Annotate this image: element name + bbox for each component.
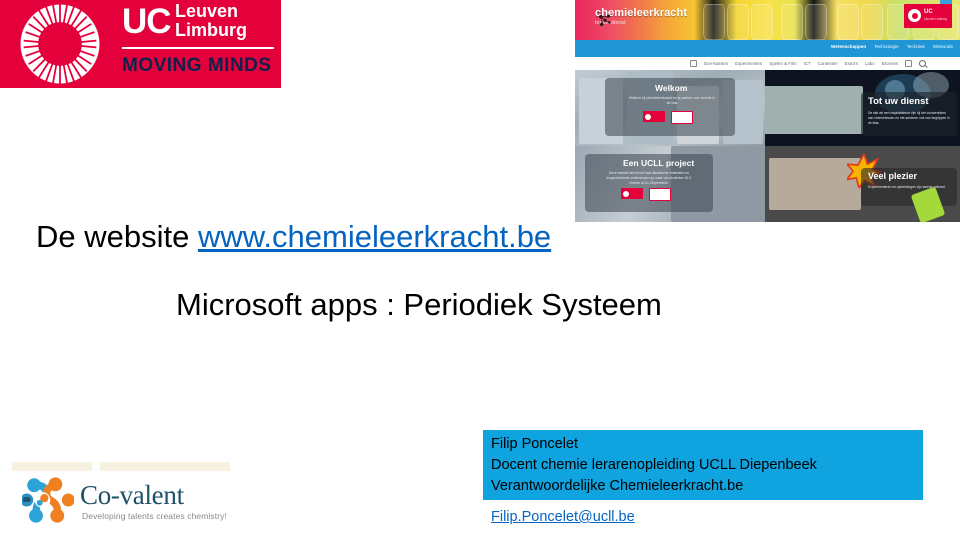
site-navigation-bar: Doe-kaarten Experimenten Spelen & Film I…: [575, 57, 960, 70]
contact-email-link[interactable]: Filip.Poncelet@ucll.be: [491, 509, 635, 525]
site-nav-item-5[interactable]: Extra's: [845, 61, 858, 66]
ucll-logo-sub: Leuven Limburg: [175, 2, 247, 40]
website-text-prefix: De website: [36, 219, 198, 254]
site-panel-welkom: Welkom Welkom bij chemieleerkracht.be je…: [575, 70, 765, 146]
ucll-logo-line2: Limburg: [175, 21, 247, 40]
ucll-logo-tagline: MOVING MINDS: [122, 56, 272, 76]
site-top-link-3[interactable]: Wiskunde: [933, 44, 953, 49]
sunburst-icon: [8, 2, 112, 86]
cream-bar-right: [100, 462, 230, 471]
site-top-link-1[interactable]: Technologie: [874, 44, 899, 49]
partner-mini-badge-2: [649, 188, 671, 201]
site-panel-ucll-project-body: Deze website bevat heel wat didactische …: [601, 171, 697, 186]
site-panel-ucll-project: Een UCLL project Deze website bevat heel…: [575, 146, 765, 222]
site-panel-ucll-project-title: Een UCLL project: [623, 158, 694, 168]
ucll-mini-badge-2: [621, 188, 643, 199]
site-panel-ucll-badges: [621, 188, 671, 201]
site-panel-tot-uw-dienst-overlay: Tot uw dienst De site wil een inspiratie…: [861, 92, 957, 136]
apps-text-line: Microsoft apps : Periodiek Systeem: [176, 287, 876, 323]
site-nav-items[interactable]: Doe-kaarten Experimenten Spelen & Film I…: [690, 60, 926, 67]
cream-bar-left: [12, 462, 92, 471]
site-nav-item-4[interactable]: Contexten: [818, 61, 838, 66]
site-top-link-2[interactable]: Techniek: [907, 44, 925, 49]
home-icon[interactable]: [690, 60, 697, 67]
site-panel-tot-uw-dienst-body: De site wil een inspiratiebron zijn bij …: [868, 111, 952, 126]
site-panel-welkom-body: Welkom bij chemieleerkracht.be je partne…: [627, 96, 717, 106]
site-panel-ucll-project-overlay: Een UCLL project Deze website bevat heel…: [585, 154, 713, 212]
ucll-logo: UC Leuven Limburg MOVING MINDS: [0, 0, 281, 88]
site-panel-veel-plezier: Veel plezier Experimenteren en opmerking…: [765, 146, 960, 222]
contact-info-box: Filip Poncelet Docent chemie lerarenople…: [483, 430, 923, 500]
site-panel-welkom-badges: [643, 111, 693, 124]
site-top-link-0[interactable]: Wetenschappen: [831, 44, 866, 49]
contact-role: Docent chemie lerarenopleiding UCLL Diep…: [483, 455, 923, 476]
search-icon[interactable]: [919, 60, 926, 67]
site-ucll-badge-name: UC: [924, 9, 933, 15]
site-panel-veel-plezier-title: Veel plezier: [868, 171, 917, 181]
site-panel-tot-uw-dienst: Tot uw dienst De site wil een inspiratie…: [765, 70, 960, 146]
site-nav-item-0[interactable]: Doe-kaarten: [704, 61, 728, 66]
site-panel-veel-plezier-body: Experimenteren en opmerkingen zijn steed…: [868, 185, 952, 190]
site-nav-item-1[interactable]: Experimenten: [735, 61, 762, 66]
website-text-line: De website www.chemieleerkracht.be: [36, 219, 656, 255]
site-panel-tot-uw-dienst-title: Tot uw dienst: [868, 96, 929, 107]
molecule-icon: [598, 14, 612, 28]
site-ucll-badge-sub: Leuven Limburg: [924, 17, 947, 21]
site-nav-item-6[interactable]: Labo: [865, 61, 875, 66]
uc-letters: UC: [122, 4, 171, 39]
site-brand-logo[interactable]: chemieleerkracht tot uw dienst: [595, 7, 687, 26]
covalent-logo: Co-valent Developing talents creates che…: [22, 473, 242, 531]
chemieleerkracht-link[interactable]: www.chemieleerkracht.be: [198, 219, 551, 254]
site-ucll-badge-mark: [908, 9, 921, 22]
cart-icon[interactable]: [905, 60, 912, 67]
contact-name: Filip Poncelet: [483, 430, 923, 455]
covalent-tagline: Developing talents creates chemistry!: [82, 511, 227, 521]
site-nav-item-2[interactable]: Spelen & Film: [769, 61, 796, 66]
site-panel-veel-plezier-overlay: Veel plezier Experimenteren en opmerking…: [861, 168, 957, 206]
site-panel-welkom-overlay: Welkom Welkom bij chemieleerkracht.be je…: [605, 78, 735, 136]
site-nav-item-3[interactable]: ICT: [804, 61, 811, 66]
covalent-name: Co-valent: [80, 480, 184, 511]
site-panel-photo: [765, 86, 863, 134]
covalent-molecule-icon: [22, 476, 74, 524]
presentation-slide: UC Leuven Limburg MOVING MINDS: [0, 0, 960, 540]
site-hero-banner: chemieleerkracht tot uw dienst UC Leuven…: [575, 0, 960, 40]
website-screenshot-image: chemieleerkracht tot uw dienst UC Leuven…: [575, 0, 960, 222]
contact-responsibility: Verantwoordelijke Chemieleerkracht.be: [483, 476, 923, 497]
ucll-logo-line1: Leuven: [175, 2, 247, 21]
ucll-mini-badge: [643, 111, 665, 122]
partner-mini-badge: [671, 111, 693, 124]
site-nav-item-7[interactable]: Bronnen: [882, 61, 899, 66]
site-ucll-badge: UC Leuven Limburg: [904, 4, 952, 28]
site-top-links[interactable]: Wetenschappen Technologie Techniek Wisku…: [831, 44, 953, 49]
ucll-logo-divider: [122, 47, 274, 49]
site-panel-welkom-title: Welkom: [655, 83, 687, 93]
site-top-links-bar: Wetenschappen Technologie Techniek Wisku…: [575, 40, 960, 57]
